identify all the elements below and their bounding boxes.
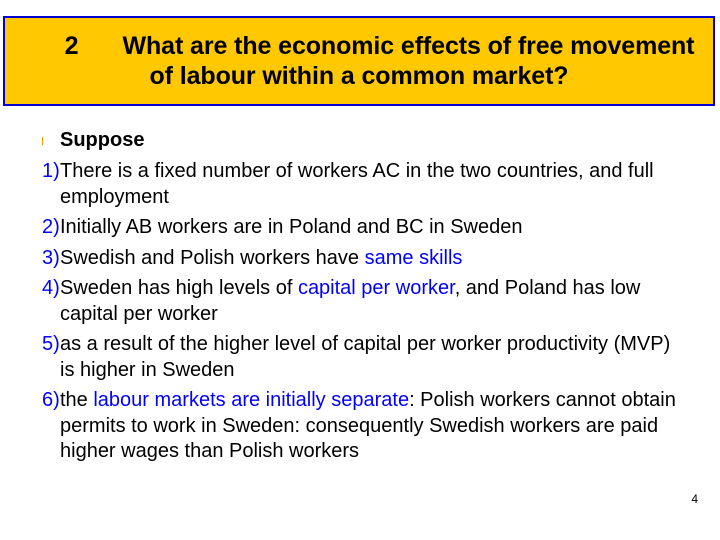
list-item-marker: 2): [26, 215, 60, 241]
list-item-text: There is a fixed number of workers AC in…: [60, 159, 680, 210]
page-number: 4: [691, 492, 698, 506]
slide-title-text: What are the economic effects of free mo…: [122, 32, 701, 90]
list-item-marker: 4): [26, 276, 60, 302]
slide-title-number: 2: [65, 32, 79, 60]
list-item-marker: 5): [26, 332, 60, 358]
slide-body: Suppose 1) There is a fixed number of wo…: [26, 128, 698, 465]
list-item: 3) Swedish and Polish workers have same …: [26, 246, 698, 272]
list-item-text: as a result of the higher level of capit…: [60, 332, 680, 383]
list-item-marker: 3): [26, 246, 60, 272]
text-segment: Swedish and Polish workers have: [60, 247, 365, 269]
text-segment: Initially AB workers are in Poland and B…: [60, 216, 522, 238]
lead-bullet-row: Suppose: [26, 128, 698, 154]
highlighted-term: capital per worker: [298, 277, 455, 299]
slide-canvas: 2What are the economic effects of free m…: [0, 0, 720, 540]
list-item-text: the labour markets are initially separat…: [60, 388, 680, 465]
list-item: 5) as a result of the higher level of ca…: [26, 332, 698, 383]
highlighted-term: labour markets are initially separate: [93, 389, 409, 411]
text-segment: as a result of the higher level of capit…: [60, 333, 670, 381]
list-item-text: Swedish and Polish workers have same ski…: [60, 246, 680, 272]
highlighted-term: same skills: [365, 247, 463, 269]
list-item: 2) Initially AB workers are in Poland an…: [26, 215, 698, 241]
list-item: 6) the labour markets are initially sepa…: [26, 388, 698, 465]
lead-bullet-label: Suppose: [43, 128, 144, 153]
text-segment: There is a fixed number of workers AC in…: [60, 160, 654, 208]
list-item-marker: 1): [26, 159, 60, 185]
list-item-marker: 6): [26, 388, 60, 414]
slide-title-box: 2What are the economic effects of free m…: [3, 16, 715, 106]
list-item-text: Sweden has high levels of capital per wo…: [60, 276, 680, 327]
list-item: 4) Sweden has high levels of capital per…: [26, 276, 698, 327]
slide-title: 2What are the economic effects of free m…: [5, 1, 713, 121]
list-item: 1) There is a fixed number of workers AC…: [26, 159, 698, 210]
square-bullet-icon: [26, 128, 43, 145]
text-segment: Sweden has high levels of: [60, 277, 298, 299]
list-item-text: Initially AB workers are in Poland and B…: [60, 215, 680, 241]
text-segment: the: [60, 389, 93, 411]
